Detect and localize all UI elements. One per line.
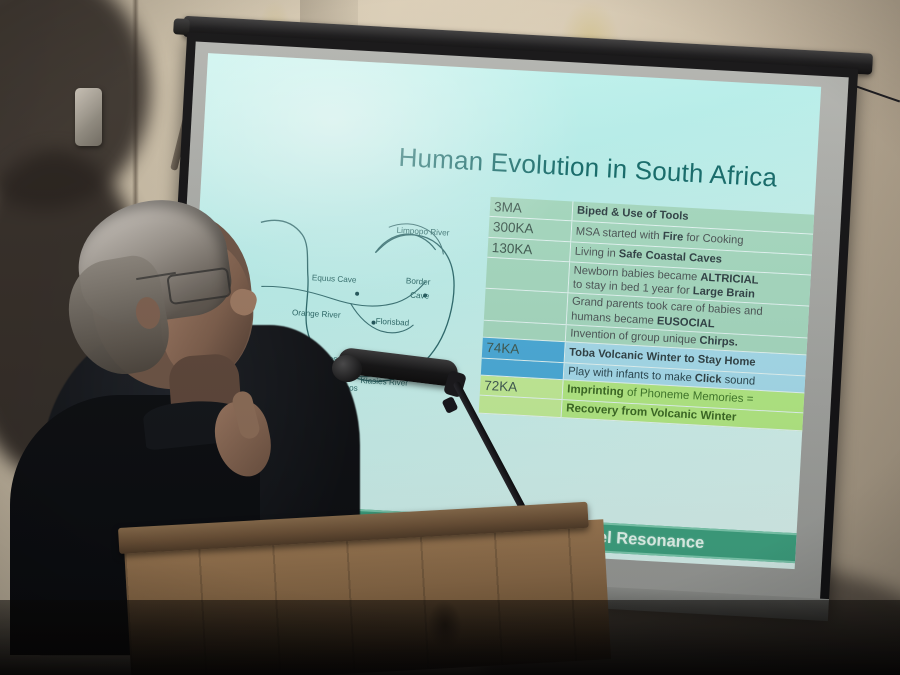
microphone-clip (442, 396, 459, 414)
foreground (0, 0, 900, 675)
foreground-shadow (0, 600, 900, 675)
lecture-scene: Human Evolution in South Africa (0, 0, 900, 675)
